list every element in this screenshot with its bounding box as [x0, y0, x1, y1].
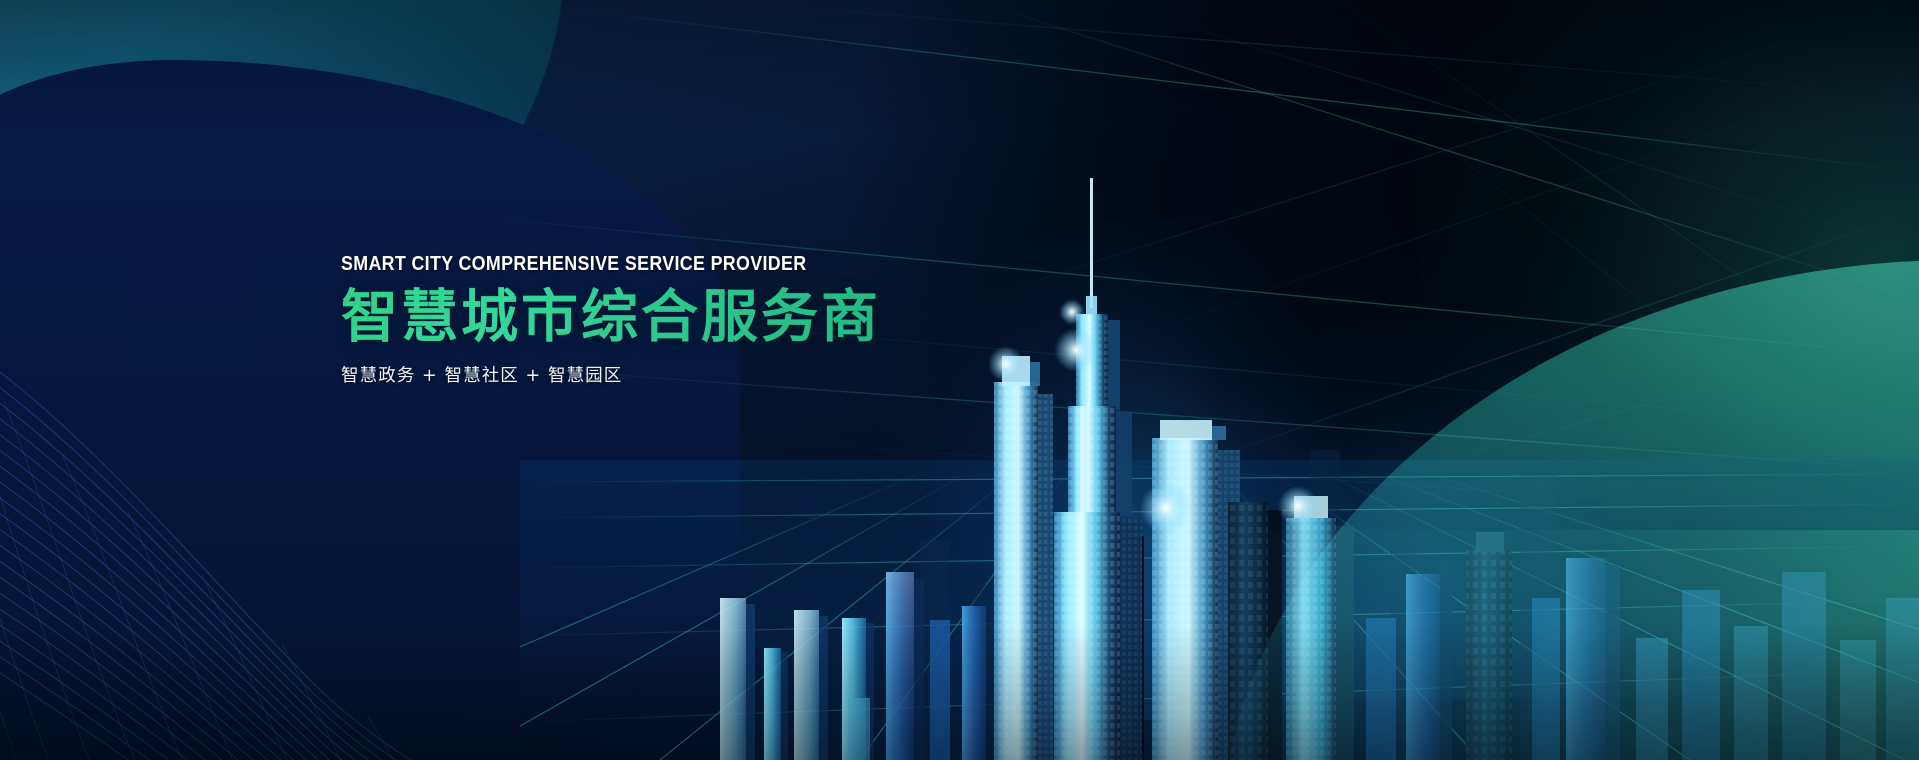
city-skyline	[690, 120, 1919, 760]
smart-city-hero-banner: SMART CITY COMPREHENSIVE SERVICE PROVIDE…	[0, 0, 1919, 760]
hero-text-block: SMART CITY COMPREHENSIVE SERVICE PROVIDE…	[341, 253, 881, 387]
hero-eyebrow: SMART CITY COMPREHENSIVE SERVICE PROVIDE…	[341, 253, 811, 276]
page-title: 智慧城市综合服务商	[341, 286, 881, 350]
hero-tagline: 智慧政务 + 智慧社区 + 智慧园区	[341, 362, 881, 387]
